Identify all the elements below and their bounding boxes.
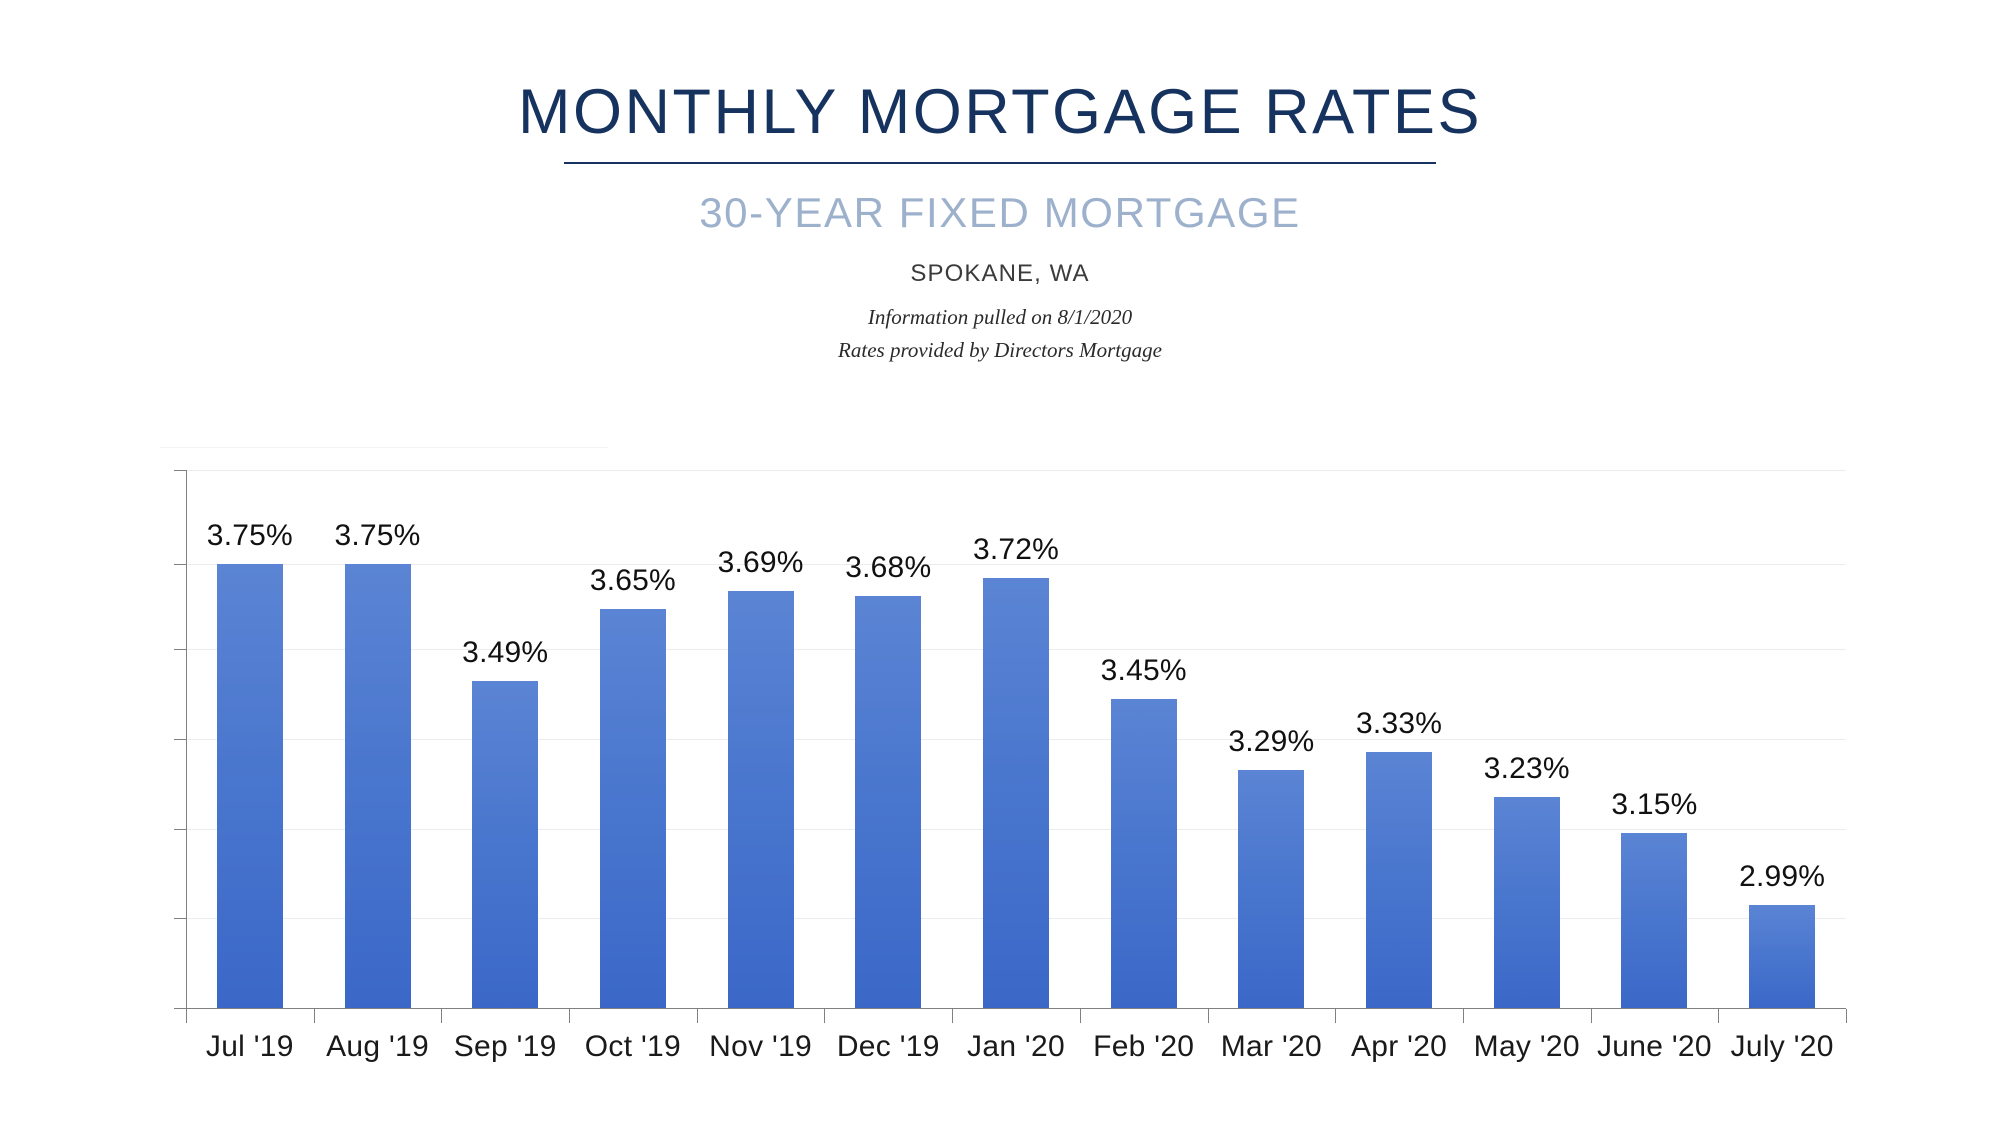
bar-group[interactable]: 3.29% (1208, 470, 1336, 1008)
bar[interactable] (217, 564, 283, 1008)
bar-value-label: 3.72% (973, 533, 1059, 567)
bar[interactable] (1494, 797, 1560, 1008)
bar[interactable] (855, 596, 921, 1008)
x-axis-tick (186, 1009, 187, 1023)
bar-value-label: 3.69% (718, 546, 804, 580)
chart-area-edge (160, 447, 608, 448)
x-axis-tick (1335, 1009, 1336, 1023)
bar-group[interactable]: 3.75% (186, 470, 314, 1008)
category-label: Dec '19 (824, 1030, 952, 1064)
category-label: Oct '19 (569, 1030, 697, 1064)
y-axis-tick (174, 649, 186, 650)
category-label: Jul '19 (186, 1030, 314, 1064)
category-label: Sep '19 (441, 1030, 569, 1064)
bar[interactable] (472, 681, 538, 1008)
x-axis-tick (1080, 1009, 1081, 1023)
x-axis-tick (1846, 1009, 1847, 1023)
category-label: July '20 (1718, 1030, 1846, 1064)
bar-group[interactable]: 3.72% (952, 470, 1080, 1008)
category-label: May '20 (1463, 1030, 1591, 1064)
bar[interactable] (1238, 770, 1304, 1008)
bar[interactable] (1366, 752, 1432, 1008)
bar-group[interactable]: 3.65% (569, 470, 697, 1008)
bar[interactable] (1621, 833, 1687, 1008)
x-axis-tick (697, 1009, 698, 1023)
bar-value-label: 3.15% (1611, 788, 1697, 822)
bar-group[interactable]: 3.68% (824, 470, 952, 1008)
bar-group[interactable]: 3.33% (1335, 470, 1463, 1008)
bar-value-label: 3.45% (1101, 654, 1187, 688)
x-axis-tick (441, 1009, 442, 1023)
bar-chart: 3.75%3.75%3.49%3.65%3.69%3.68%3.72%3.45%… (0, 0, 2000, 1142)
x-axis-tick (1208, 1009, 1209, 1023)
bar-group[interactable]: 3.75% (314, 470, 442, 1008)
x-axis-tick (1463, 1009, 1464, 1023)
bar-value-label: 3.29% (1228, 725, 1314, 759)
category-label: Nov '19 (697, 1030, 825, 1064)
bar[interactable] (345, 564, 411, 1008)
bar[interactable] (1749, 905, 1815, 1008)
category-label: June '20 (1591, 1030, 1719, 1064)
bar-group[interactable]: 3.49% (441, 470, 569, 1008)
y-axis-tick (174, 1008, 186, 1009)
bar[interactable] (1111, 699, 1177, 1008)
bar-value-label: 3.75% (207, 519, 293, 553)
y-axis-tick (174, 918, 186, 919)
bar-group[interactable]: 2.99% (1718, 470, 1846, 1008)
bar-value-label: 3.65% (590, 564, 676, 598)
category-label: Aug '19 (314, 1030, 442, 1064)
bar-value-label: 3.49% (462, 636, 548, 670)
y-axis-tick (174, 564, 186, 565)
bar-series: 3.75%3.75%3.49%3.65%3.69%3.68%3.72%3.45%… (186, 470, 1846, 1008)
bar[interactable] (600, 609, 666, 1008)
bar-value-label: 3.68% (845, 551, 931, 585)
bar-value-label: 2.99% (1739, 860, 1825, 894)
y-axis-tick (174, 829, 186, 830)
x-axis-tick (1718, 1009, 1719, 1023)
bar[interactable] (983, 578, 1049, 1008)
bar-value-label: 3.33% (1356, 707, 1442, 741)
bar[interactable] (728, 591, 794, 1008)
bar-value-label: 3.75% (334, 519, 420, 553)
x-axis-tick (1591, 1009, 1592, 1023)
category-label: Mar '20 (1208, 1030, 1336, 1064)
x-axis-tick (824, 1009, 825, 1023)
x-axis-tick (569, 1009, 570, 1023)
bar-group[interactable]: 3.15% (1591, 470, 1719, 1008)
category-label: Jan '20 (952, 1030, 1080, 1064)
y-axis-tick (174, 739, 186, 740)
x-axis-tick (952, 1009, 953, 1023)
category-label: Feb '20 (1080, 1030, 1208, 1064)
x-axis (186, 1008, 1846, 1009)
y-axis-tick (174, 470, 186, 471)
bar-value-label: 3.23% (1484, 752, 1570, 786)
bar-group[interactable]: 3.45% (1080, 470, 1208, 1008)
bar-group[interactable]: 3.23% (1463, 470, 1591, 1008)
category-label: Apr '20 (1335, 1030, 1463, 1064)
x-axis-tick (314, 1009, 315, 1023)
bar-group[interactable]: 3.69% (697, 470, 825, 1008)
